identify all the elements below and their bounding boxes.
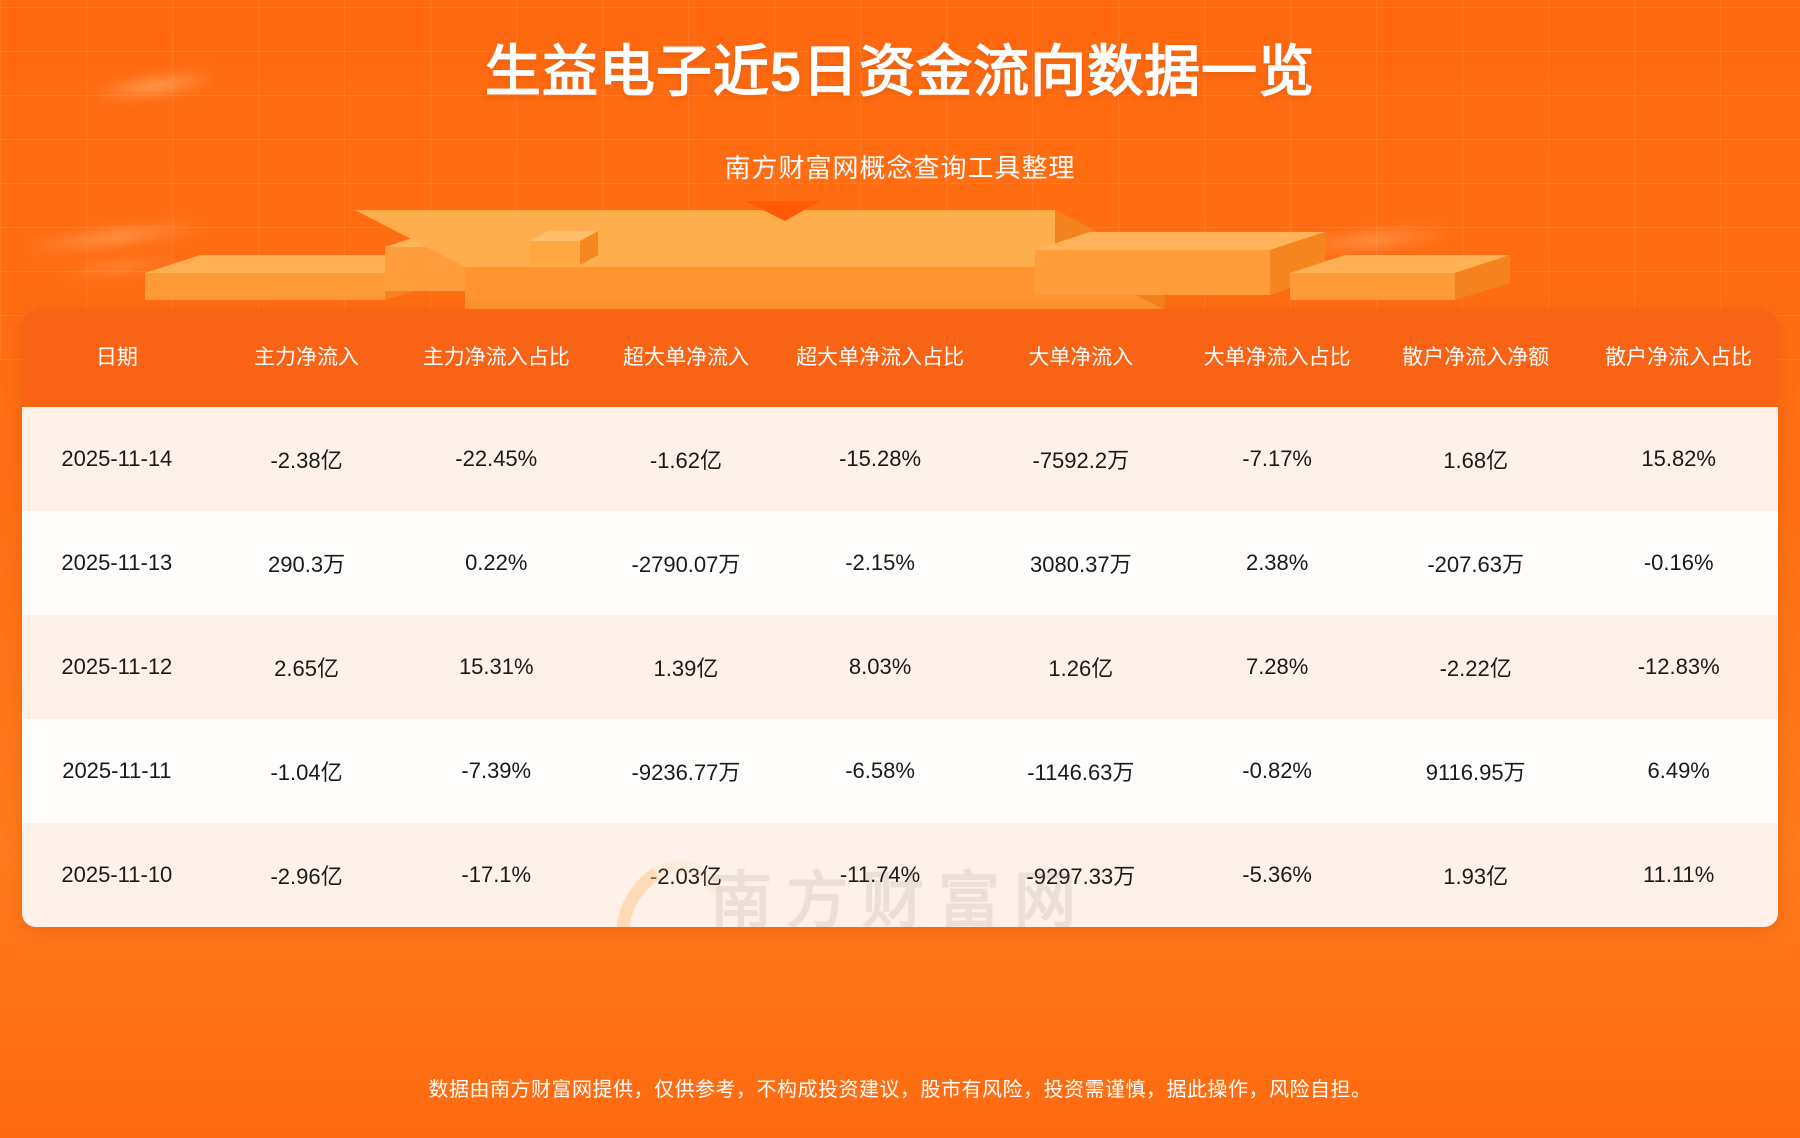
cell-lg-pct: -5.36% <box>1182 823 1372 927</box>
cell-xl-net: -1.62亿 <box>591 407 781 511</box>
cell-main-pct: -7.39% <box>401 719 591 823</box>
cell-main-net: -1.04亿 <box>212 719 402 823</box>
table-body: 2025-11-14 -2.38亿 -22.45% -1.62亿 -15.28%… <box>22 407 1778 927</box>
column-header-main-pct: 主力净流入占比 <box>401 309 591 407</box>
column-header-lg-net: 大单净流入 <box>979 309 1182 407</box>
cell-lg-net: -7592.2万 <box>979 407 1182 511</box>
cell-xl-net: -9236.77万 <box>591 719 781 823</box>
disclaimer-text: 数据由南方财富网提供，仅供参考，不构成投资建议，股市有风险，投资需谨慎，据此操作… <box>0 1073 1800 1102</box>
table-row: 2025-11-14 -2.38亿 -22.45% -1.62亿 -15.28%… <box>22 407 1778 511</box>
table-header-row: 日期 主力净流入 主力净流入占比 超大单净流入 超大单净流入占比 大单净流入 大… <box>22 309 1778 407</box>
table-header: 日期 主力净流入 主力净流入占比 超大单净流入 超大单净流入占比 大单净流入 大… <box>22 309 1778 407</box>
cell-main-pct: -17.1% <box>401 823 591 927</box>
column-header-retail-pct: 散户净流入占比 <box>1579 309 1778 407</box>
column-header-lg-pct: 大单净流入占比 <box>1182 309 1372 407</box>
cell-retail-pct: -12.83% <box>1579 615 1778 719</box>
cell-main-net: -2.38亿 <box>212 407 402 511</box>
cell-xl-net: -2.03亿 <box>591 823 781 927</box>
page-subtitle: 南方财富网概念查询工具整理 <box>0 148 1800 185</box>
cell-xl-pct: -11.74% <box>781 823 980 927</box>
cell-xl-net: 1.39亿 <box>591 615 781 719</box>
cell-main-pct: 15.31% <box>401 615 591 719</box>
table-row: 2025-11-13 290.3万 0.22% -2790.07万 -2.15%… <box>22 511 1778 615</box>
cell-lg-pct: 7.28% <box>1182 615 1372 719</box>
cell-retail-pct: -0.16% <box>1579 511 1778 615</box>
page-title: 生益电子近5日资金流向数据一览 <box>0 38 1800 105</box>
cell-xl-pct: -2.15% <box>781 511 980 615</box>
cell-lg-net: -9297.33万 <box>979 823 1182 927</box>
cell-xl-net: -2790.07万 <box>591 511 781 615</box>
cell-retail-net: 1.68亿 <box>1372 407 1579 511</box>
cell-lg-net: -1146.63万 <box>979 719 1182 823</box>
cell-date: 2025-11-14 <box>22 407 212 511</box>
cell-date: 2025-11-12 <box>22 615 212 719</box>
column-header-xl-net: 超大单净流入 <box>591 309 781 407</box>
table-row: 2025-11-12 2.65亿 15.31% 1.39亿 8.03% 1.26… <box>22 615 1778 719</box>
cell-xl-pct: -15.28% <box>781 407 980 511</box>
cell-retail-net: -207.63万 <box>1372 511 1579 615</box>
table-row: 2025-11-11 -1.04亿 -7.39% -9236.77万 -6.58… <box>22 719 1778 823</box>
cell-retail-pct: 15.82% <box>1579 407 1778 511</box>
cell-main-pct: 0.22% <box>401 511 591 615</box>
cell-lg-pct: -0.82% <box>1182 719 1372 823</box>
cell-main-net: -2.96亿 <box>212 823 402 927</box>
cell-lg-pct: -7.17% <box>1182 407 1372 511</box>
cell-date: 2025-11-11 <box>22 719 212 823</box>
fund-flow-table: 日期 主力净流入 主力净流入占比 超大单净流入 超大单净流入占比 大单净流入 大… <box>22 309 1778 927</box>
column-header-retail-net: 散户净流入净额 <box>1372 309 1579 407</box>
cell-main-pct: -22.45% <box>401 407 591 511</box>
fund-flow-table-card: 南方财富网 outhmoney.com 日期 主力净流入 主力净流入占比 超大单… <box>22 309 1778 927</box>
cell-retail-net: 9116.95万 <box>1372 719 1579 823</box>
cell-date: 2025-11-13 <box>22 511 212 615</box>
cell-lg-pct: 2.38% <box>1182 511 1372 615</box>
cell-lg-net: 3080.37万 <box>979 511 1182 615</box>
cell-date: 2025-11-10 <box>22 823 212 927</box>
cell-retail-net: 1.93亿 <box>1372 823 1579 927</box>
cell-xl-pct: -6.58% <box>781 719 980 823</box>
cell-lg-net: 1.26亿 <box>979 615 1182 719</box>
cell-retail-pct: 6.49% <box>1579 719 1778 823</box>
table-row: 2025-11-10 -2.96亿 -17.1% -2.03亿 -11.74% … <box>22 823 1778 927</box>
cell-retail-pct: 11.11% <box>1579 823 1778 927</box>
column-header-xl-pct: 超大单净流入占比 <box>781 309 980 407</box>
column-header-date: 日期 <box>22 309 212 407</box>
cell-retail-net: -2.22亿 <box>1372 615 1579 719</box>
cell-main-net: 290.3万 <box>212 511 402 615</box>
column-header-main-net: 主力净流入 <box>212 309 402 407</box>
cell-xl-pct: 8.03% <box>781 615 980 719</box>
cell-main-net: 2.65亿 <box>212 615 402 719</box>
